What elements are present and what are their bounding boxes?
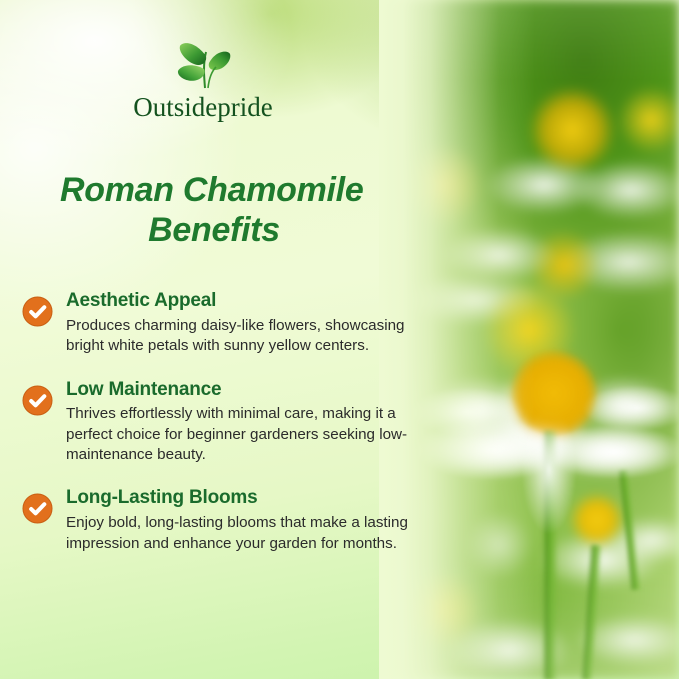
check-circle-icon xyxy=(22,385,53,416)
benefit-title: Long-Lasting Blooms xyxy=(66,487,440,510)
benefit-description: Enjoy bold, long-lasting blooms that mak… xyxy=(66,513,418,554)
benefit-description: Thrives effortlessly with minimal care, … xyxy=(66,404,418,465)
benefit-title: Aesthetic Appeal xyxy=(66,290,440,313)
benefit-title: Low Maintenance xyxy=(66,379,440,402)
check-circle-icon xyxy=(22,493,53,524)
leaf-sprig-icon xyxy=(164,36,242,92)
check-circle-icon xyxy=(22,296,53,327)
page-title-line-1: Roman Chamomile xyxy=(60,171,363,209)
brand-name: Outsidepride xyxy=(118,94,288,121)
benefits-list: Aesthetic Appeal Produces charming daisy… xyxy=(0,290,440,576)
content-column: Outsidepride Roman Chamomile Benefits Ae… xyxy=(0,0,450,679)
list-item: Aesthetic Appeal Produces charming daisy… xyxy=(0,290,440,357)
list-item: Long-Lasting Blooms Enjoy bold, long-las… xyxy=(0,487,440,554)
page-title: Roman Chamomile Benefits xyxy=(60,170,390,250)
page-title-line-2: Benefits xyxy=(60,210,390,250)
benefit-description: Produces charming daisy-like flowers, sh… xyxy=(66,316,418,357)
infographic-root: Outsidepride Roman Chamomile Benefits Ae… xyxy=(0,0,679,679)
list-item: Low Maintenance Thrives effortlessly wit… xyxy=(0,379,440,466)
brand-logo[interactable]: Outsidepride xyxy=(118,36,288,121)
